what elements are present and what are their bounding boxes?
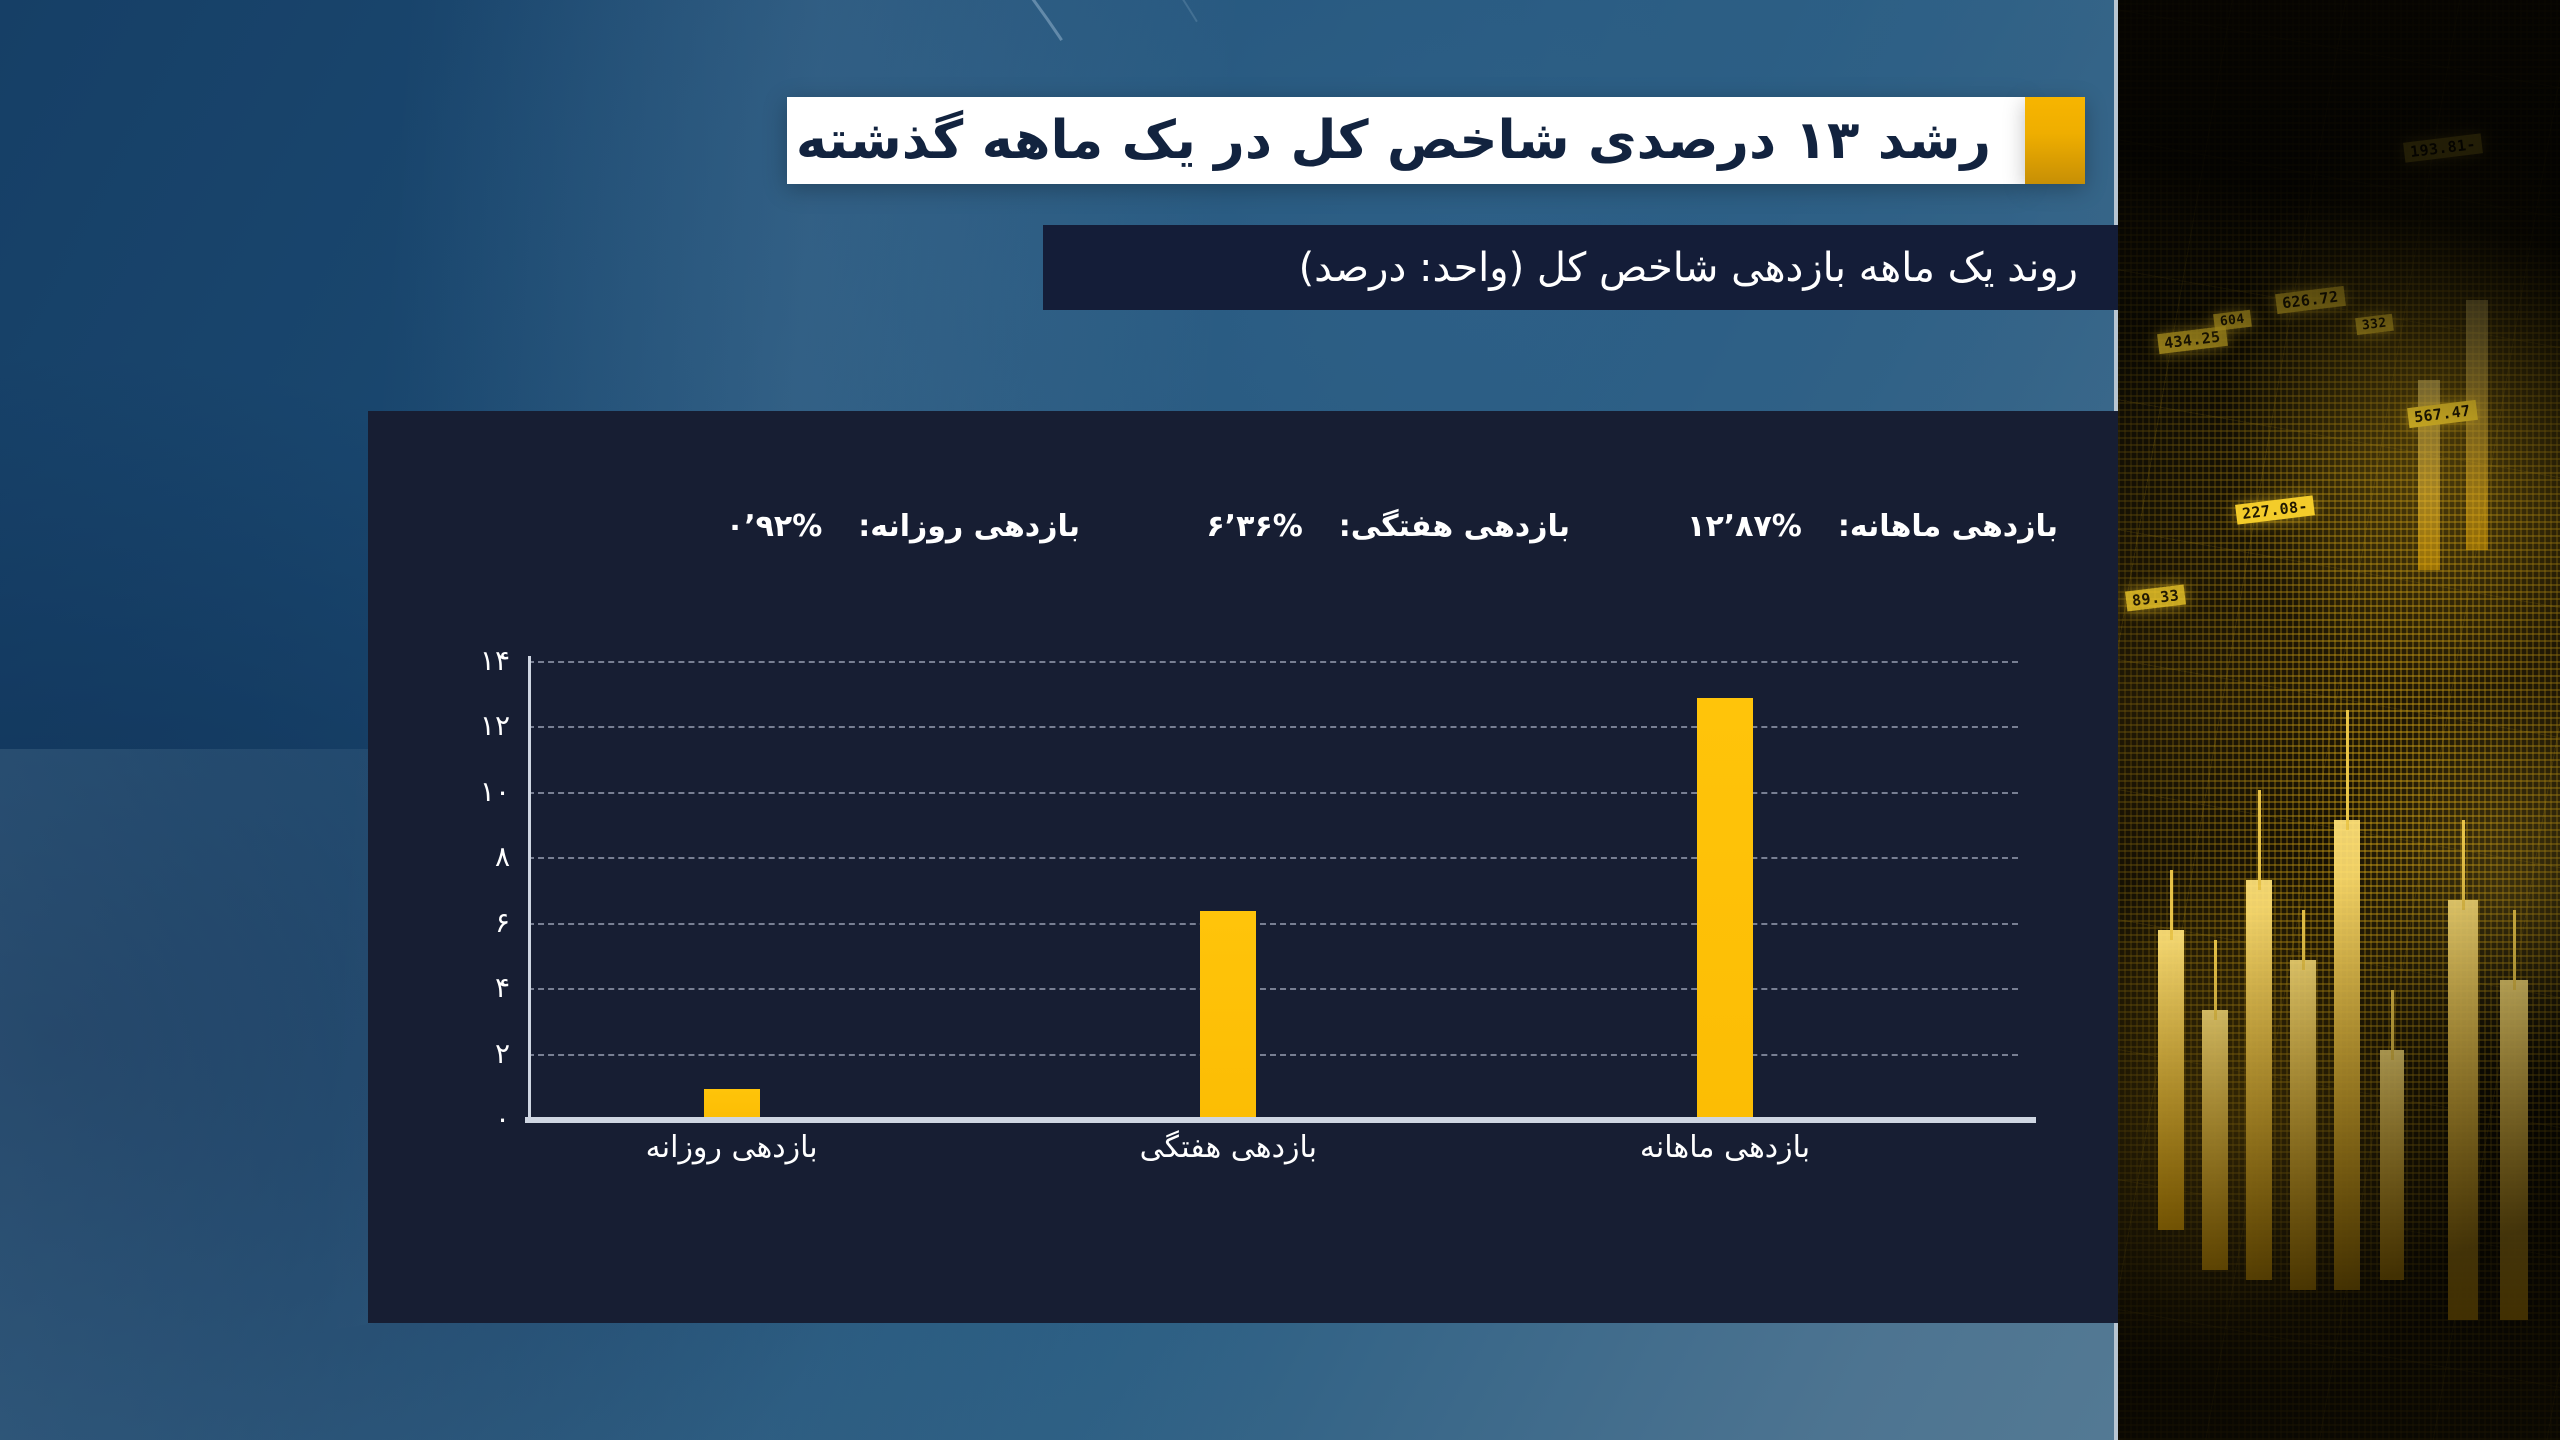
subtitle: روند یک ماهه بازدهی شاخص کل (واحد: درصد): [1299, 248, 2078, 288]
stat-value: ۰٬۹۲%: [726, 509, 822, 544]
y-axis-line: [528, 656, 531, 1122]
y-axis-tick-label: ۱۰: [480, 778, 510, 806]
stat-label: بازدهی ماهانه:: [1838, 509, 2058, 544]
y-axis-tick-label: ۴: [495, 974, 510, 1002]
summary-stats-row: بازدهی ماهانه: ۱۲٬۸۷% بازدهی هفتگی: ۶٬۳۶…: [368, 503, 2118, 549]
stat-value: ۶٬۳۶%: [1206, 509, 1302, 544]
gridline: [528, 726, 2018, 728]
stat-daily-return: بازدهی روزانه: ۰٬۹۲%: [650, 509, 1080, 544]
stat-weekly-return: بازدهی هفتگی: ۶٬۳۶%: [1140, 509, 1570, 544]
y-axis-tick-label: ۱۲: [480, 712, 510, 740]
market-imagery-strip: -193.81 626.72 434.25 567.47 -227.08 89.…: [2114, 0, 2560, 1440]
x-axis-line: [525, 1117, 2036, 1123]
plot-inner: ۰۲۴۶۸۱۰۱۲۱۴ بازدهی روزانهبازدهی هفتگیباز…: [528, 661, 2018, 1119]
headline-banner: رشد ۱۳ درصدی شاخص کل در یک ماهه گذشته: [787, 97, 2025, 184]
gridline: [528, 792, 2018, 794]
stat-label: بازدهی هفتگی:: [1339, 509, 1570, 544]
stat-label: بازدهی روزانه:: [858, 509, 1080, 544]
y-axis-tick-label: ۱۴: [480, 647, 510, 675]
y-axis-tick-label: ۰: [495, 1105, 510, 1133]
subtitle-banner: روند یک ماهه بازدهی شاخص کل (واحد: درصد): [1043, 225, 2118, 310]
stat-monthly-return: بازدهی ماهانه: ۱۲٬۸۷%: [1628, 509, 2058, 544]
x-axis-category-label: بازدهی هفتگی: [1140, 1133, 1317, 1163]
bar: [704, 1089, 760, 1119]
gridline: [528, 1054, 2018, 1056]
plot-area: ۰۲۴۶۸۱۰۱۲۱۴ بازدهی روزانهبازدهی هفتگیباز…: [528, 661, 2018, 1119]
bar: [1697, 698, 1753, 1119]
bar: [1200, 911, 1256, 1119]
y-axis-tick-label: ۲: [495, 1040, 510, 1068]
x-axis-category-label: بازدهی ماهانه: [1640, 1133, 1810, 1163]
chart-panel: بازدهی ماهانه: ۱۲٬۸۷% بازدهی هفتگی: ۶٬۳۶…: [368, 411, 2118, 1323]
gridline: [528, 988, 2018, 990]
gridline: [528, 661, 2018, 663]
headline-gold-accent: [2025, 97, 2085, 184]
x-axis-category-label: بازدهی روزانه: [646, 1133, 818, 1163]
stat-value: ۱۲٬۸۷%: [1687, 509, 1802, 544]
gridline: [528, 923, 2018, 925]
page-title: رشد ۱۳ درصدی شاخص کل در یک ماهه گذشته: [796, 114, 1991, 167]
y-axis-tick-label: ۸: [495, 843, 510, 871]
market-shadow-overlay: [2118, 0, 2560, 1440]
gridline: [528, 857, 2018, 859]
y-axis-tick-label: ۶: [495, 909, 510, 937]
